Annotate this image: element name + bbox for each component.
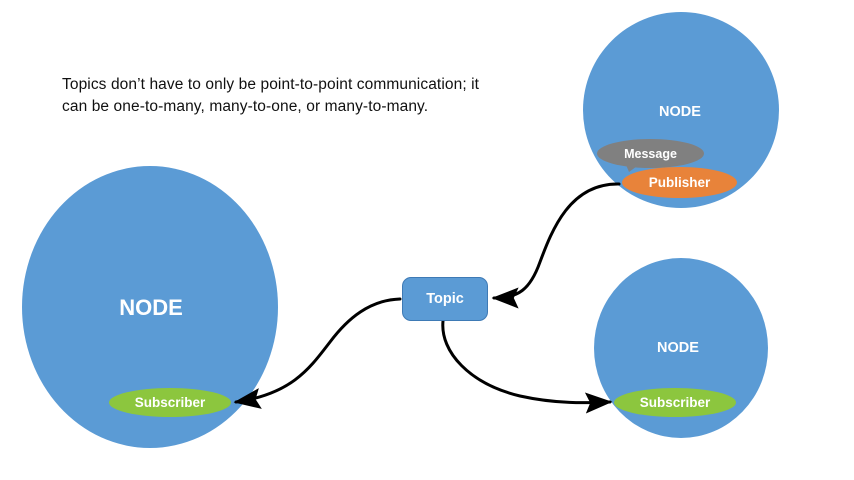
connector-publisher-to-topic [494, 184, 619, 298]
node-label-bottom-right: NODE [657, 340, 699, 356]
subscriber-pill-bottom-right: Subscriber [614, 388, 736, 417]
subscriber-pill-left: Subscriber [109, 388, 231, 417]
publisher-pill: Publisher [622, 167, 737, 198]
node-label-left: NODE [119, 295, 183, 321]
node-label-top-right: NODE [659, 104, 701, 120]
slide-canvas: Topics don’t have to only be point-to-po… [0, 0, 854, 480]
connector-topic-to-bottom-right-subscriber [443, 321, 610, 403]
caption-text: Topics don’t have to only be point-to-po… [62, 74, 482, 119]
message-bubble: Message [597, 139, 704, 168]
topic-box: Topic [402, 277, 488, 321]
